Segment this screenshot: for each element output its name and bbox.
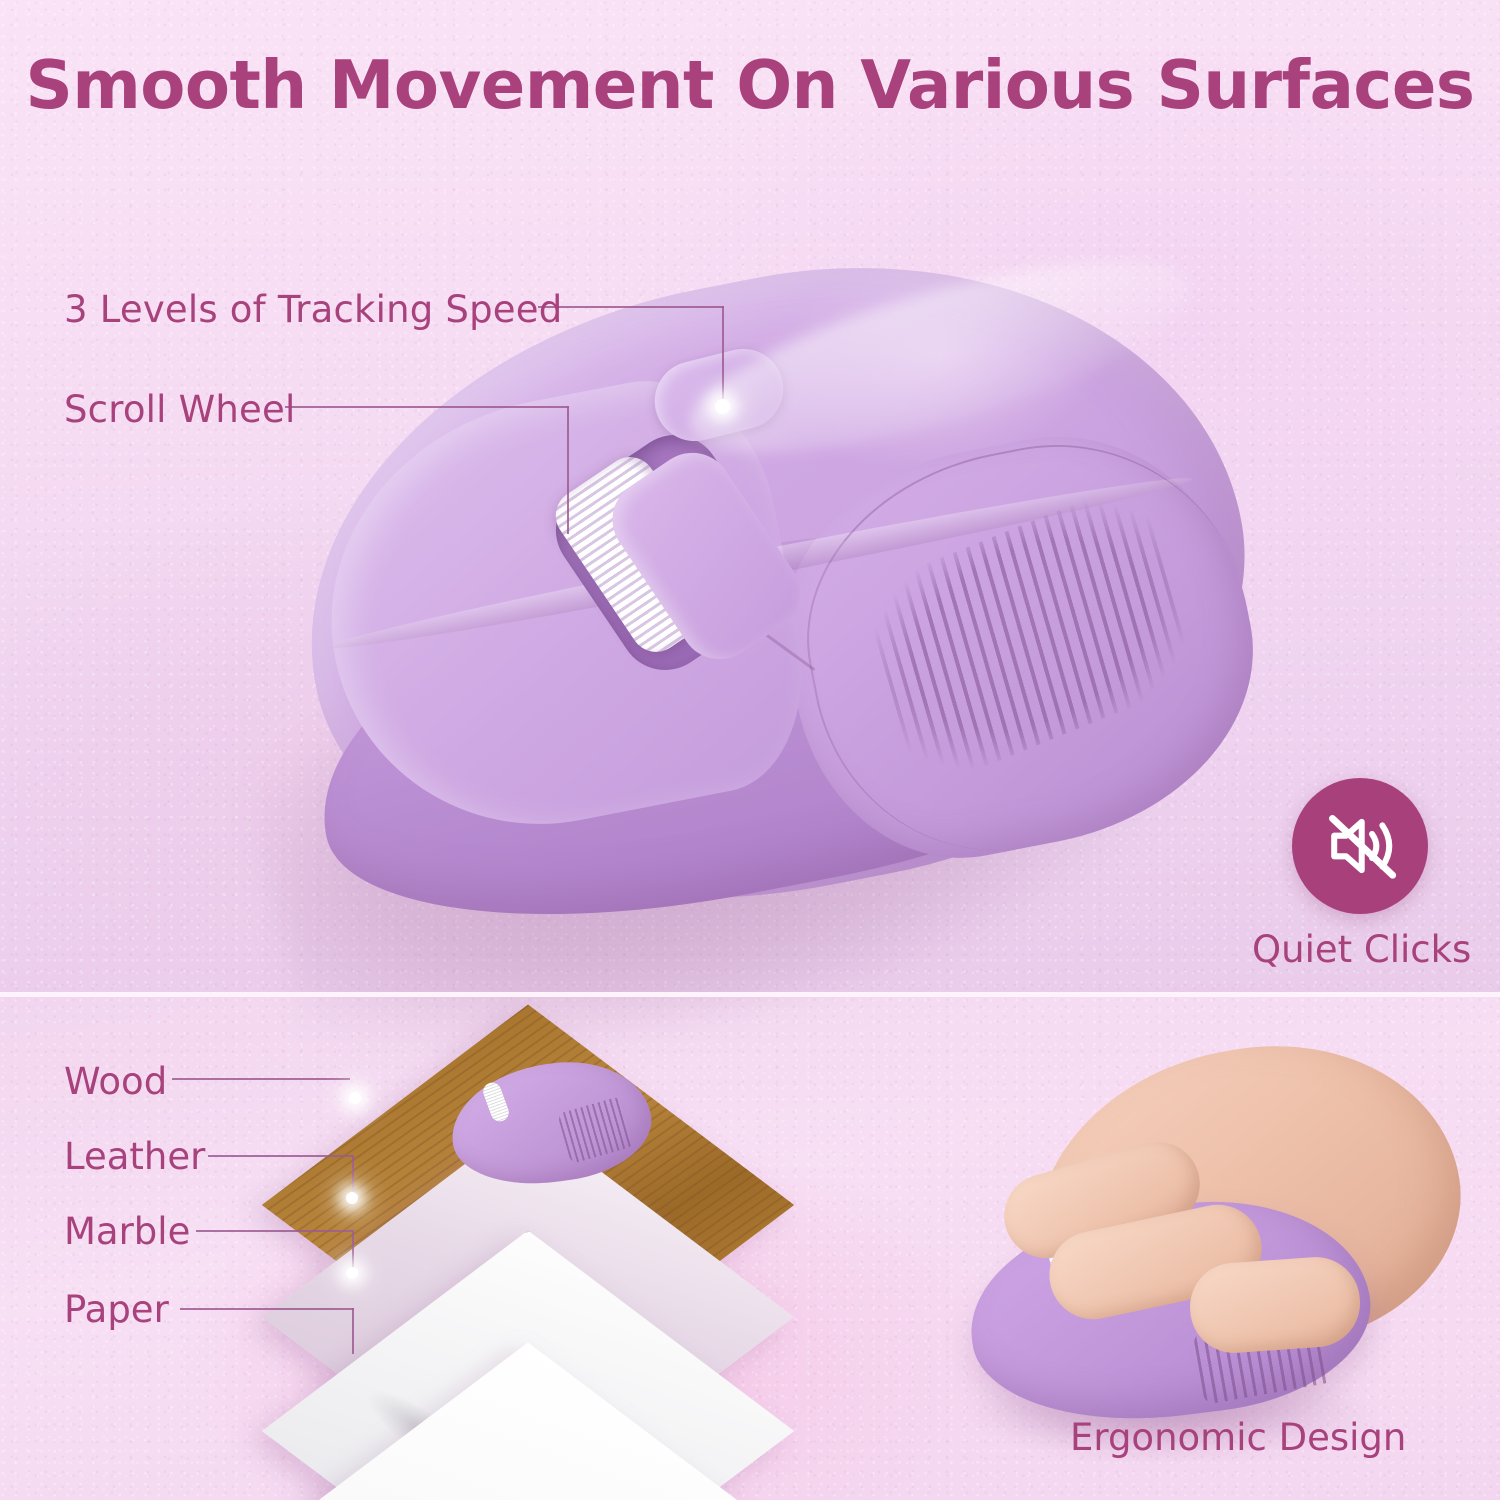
surface-label-paper: Paper (64, 1288, 169, 1331)
surface-label-leather: Leather (64, 1135, 205, 1178)
leader-line-tracking-speed (538, 306, 728, 411)
quiet-clicks-label: Quiet Clicks (1252, 928, 1468, 971)
mini-mouse-on-wood (451, 1046, 661, 1196)
leader-line-marble (196, 1230, 356, 1278)
hotspot-dot-wood (349, 1092, 361, 1104)
leader-line-wood (172, 1078, 352, 1082)
hotspot-dot-dpi-button (715, 399, 730, 414)
quiet-clicks-badge: Quiet Clicks (1252, 778, 1468, 968)
mute-speaker-icon (1292, 778, 1428, 914)
hand-holding-mouse-image (940, 1050, 1480, 1450)
callout-label-scroll-wheel: Scroll Wheel (64, 388, 295, 431)
hotspot-dot-marble (346, 1267, 358, 1279)
main-mouse-product-image (250, 250, 1320, 950)
leader-line-scroll-wheel (285, 406, 573, 538)
surface-label-marble: Marble (64, 1210, 190, 1253)
product-feature-page: Smooth Movement On Various Surfaces 3 Le… (0, 0, 1500, 1500)
panel-divider (0, 992, 1500, 997)
surface-label-wood: Wood (64, 1060, 167, 1103)
ergonomic-design-label: Ergonomic Design (1070, 1416, 1406, 1459)
leader-line-leather (208, 1155, 356, 1203)
hotspot-dot-leather (346, 1192, 358, 1204)
leader-line-paper (180, 1308, 356, 1358)
finger-thumb (1187, 1254, 1363, 1356)
page-title: Smooth Movement On Various Surfaces (15, 46, 1485, 124)
callout-label-tracking-speed: 3 Levels of Tracking Speed (64, 288, 562, 331)
